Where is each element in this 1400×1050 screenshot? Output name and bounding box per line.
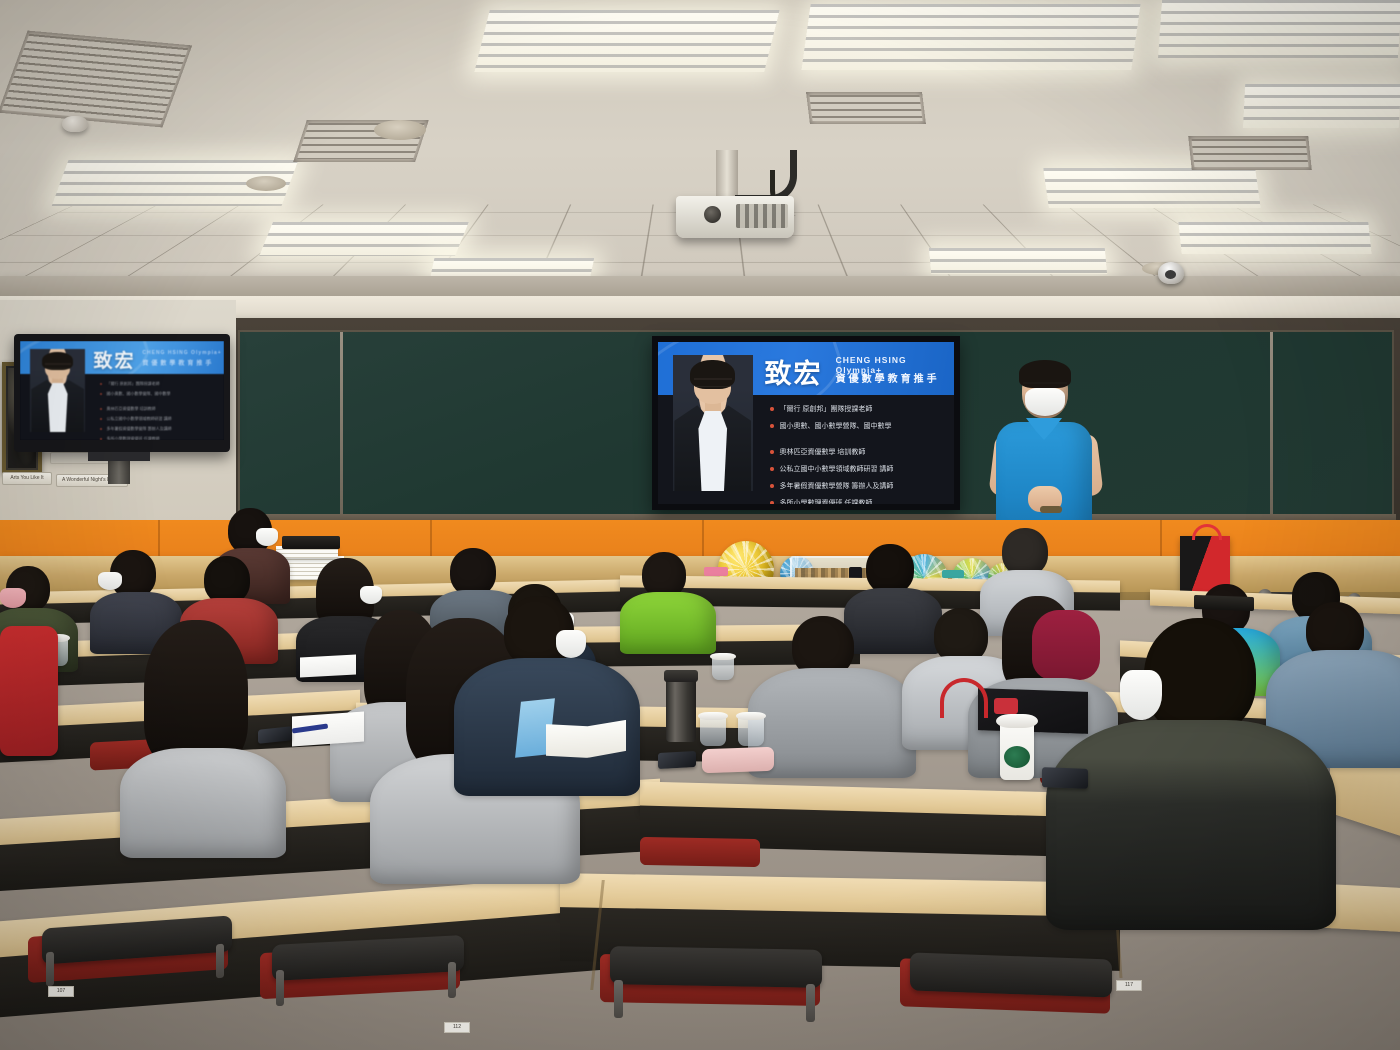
pencil-case (702, 747, 774, 774)
presenter-wristwatch (1040, 506, 1062, 513)
cup-lid (698, 712, 728, 720)
wall-plaque: Arts You Like It (2, 472, 52, 485)
slide-bullet-text: 多年暑假資優數學營隊 籌辦人及講師 (779, 481, 893, 491)
slide-bullet-text: 多年暑假資優數學營隊 籌辦人及講師 (107, 426, 172, 432)
presenter-face-mask (1025, 388, 1065, 416)
slide-bullet-text: 奧林匹亞資優數學 培訓教師 (779, 447, 865, 457)
bullet-dot-icon (770, 484, 774, 488)
slide-bullet-item: 奧林匹亞資優數學 培訓教師 (100, 406, 218, 412)
portrait-glasses (694, 378, 732, 386)
travel-thermos (666, 676, 696, 742)
tote-bag-logo (994, 698, 1018, 714)
closed-laptop (282, 536, 340, 549)
bullet-dot-icon (100, 408, 102, 410)
slide-canvas: 致宏 CHENG HSING Olympia+ 資優數學教育推手 「爾行 原創邦… (658, 342, 954, 504)
desk-number-tag: 112 (444, 1022, 470, 1033)
chair-frame (216, 944, 224, 979)
slide-bullet-text: 「爾行 原創邦」團隊授課老師 (779, 404, 872, 414)
closed-laptop (1194, 595, 1254, 611)
desk-number-tag: 107 (48, 986, 74, 997)
slide-bullet-text: 國小奧數、國小數學營隊、國中數學 (107, 391, 171, 397)
main-projection-screen: 致宏 CHENG HSING Olympia+ 資優數學教育推手 「爾行 原創邦… (652, 336, 960, 510)
audience-member (126, 620, 266, 820)
slide-subtitle-en: CHENG HSING Olympia+ (142, 350, 221, 356)
drink-cup (700, 716, 726, 746)
bullet-dot-icon (770, 407, 774, 411)
recessed-fluorescent-light-panel (1178, 222, 1371, 254)
slide-bullet-item: 多年暑假資優數學營隊 籌辦人及講師 (100, 426, 218, 432)
slide-bullet-item: 奧林匹亞資優數學 培訓教師 (770, 447, 948, 457)
recessed-fluorescent-light-panel (1158, 0, 1400, 58)
chair-frame (806, 984, 815, 1022)
audience-member (1046, 600, 1366, 900)
slide-bullet-item: 國小奧數、國小數學營隊、國中數學 (770, 421, 948, 431)
monitor-screen: 致宏 CHENG HSING Olympia+ 資優數學教育推手 「爾行 原創邦… (20, 341, 224, 440)
chair-frame (448, 962, 456, 998)
chair-frame (614, 980, 623, 1018)
chair-backrest[interactable] (610, 946, 822, 988)
slide-title: 致宏 (93, 346, 135, 373)
slide-bullet-item: 「爾行 原創邦」團隊授課老師 (100, 381, 218, 387)
wall-mounted-lcd-monitor[interactable]: 致宏 CHENG HSING Olympia+ 資優數學教育推手 「爾行 原創邦… (14, 334, 230, 452)
face-mask (98, 572, 122, 590)
portrait-glasses (45, 363, 71, 368)
face-mask (1120, 670, 1162, 720)
recessed-fluorescent-light-panel (1043, 168, 1261, 208)
audience-member (762, 616, 902, 756)
monitor-stand (88, 452, 150, 461)
slide-bullet-item: 多所小學數理資優班 任課教師 (100, 436, 218, 440)
desk-number-tag: 117 (1116, 980, 1142, 991)
bullet-dot-icon (100, 393, 102, 395)
face-mask (256, 528, 278, 546)
chair-seat[interactable] (640, 837, 760, 867)
recessed-fluorescent-light-panel (474, 10, 779, 72)
ceiling-air-vent (0, 31, 192, 128)
slide-bullet-item: 多所小學數理資優班 任課教師 (770, 498, 948, 504)
slide-bullet-text: 國小奧數、國小數學營隊、國中數學 (779, 421, 891, 431)
blackboard-panel-divider (1270, 332, 1273, 514)
red-backpack (0, 626, 58, 756)
audience-member (628, 552, 708, 642)
ceiling-air-vent (806, 92, 926, 124)
bullet-dot-icon (770, 450, 774, 454)
tote-bag-handle (940, 678, 988, 718)
person-head (1002, 528, 1048, 576)
bullet-dot-icon (100, 383, 102, 385)
ceiling-air-vent (1188, 136, 1312, 170)
slide-bullet-item: 國小奧數、國小數學營隊、國中數學 (100, 391, 218, 397)
projector-lens (704, 206, 721, 223)
person-torso (620, 592, 716, 654)
bullet-dot-icon (100, 418, 102, 420)
chair-frame (46, 952, 54, 987)
face-mask (0, 588, 26, 608)
slide-bullet-text: 「爾行 原創邦」團隊授課老師 (107, 381, 160, 387)
recessed-fluorescent-light-panel (259, 222, 469, 256)
slide-bullet-list: 「爾行 原創邦」團隊授課老師 國小奧數、國小數學營隊、國中數學 奧林匹亞資優數學… (770, 404, 948, 504)
person-head (866, 544, 914, 594)
blackboard-panel-divider (340, 332, 343, 514)
bullet-dot-icon (770, 501, 774, 504)
coffee-cup-lid (996, 714, 1038, 728)
slide-bullet-item: 公私立國中小數學領域教師研習 講師 (100, 416, 218, 422)
slide-subtitle-cn: 資優數學教育推手 (142, 358, 214, 367)
slide-bullet-text: 公私立國中小數學領域教師研習 講師 (107, 416, 172, 422)
bullet-dot-icon (770, 424, 774, 428)
smartphone[interactable] (658, 751, 696, 769)
recessed-fluorescent-light-panel (929, 248, 1107, 274)
slide-bullet-item: 「爾行 原創邦」團隊授課老師 (770, 404, 948, 414)
ceiling (0, 0, 1400, 330)
slide-bullet-item: 多年暑假資優數學營隊 籌辦人及講師 (770, 481, 948, 491)
slide-bullet-list: 「爾行 原創邦」團隊授課老師 國小奧數、國小數學營隊、國中數學 奧林匹亞資優數學… (100, 381, 218, 440)
smartphone[interactable] (1042, 767, 1088, 789)
slide-bullet-item: 公私立國中小數學領域教師研習 講師 (770, 464, 948, 474)
person-hair (144, 620, 248, 768)
thermos-lid (664, 670, 698, 682)
coffee-cup-logo (1004, 746, 1030, 768)
recessed-fluorescent-light-panel (1243, 84, 1400, 128)
person-torso (120, 748, 286, 858)
bullet-dot-icon (100, 428, 102, 430)
ceiling-speaker (246, 176, 286, 191)
projector-ports (736, 204, 788, 228)
slide-title: 致宏 (765, 352, 823, 391)
chair-backrest[interactable] (910, 952, 1112, 997)
slide-bullet-text: 多所小學數理資優班 任課教師 (107, 436, 160, 440)
slide-subtitle-cn: 資優數學教育推手 (836, 370, 940, 385)
ceiling-speaker (374, 120, 426, 140)
slide-portrait-photo (673, 355, 753, 491)
ceiling-mounted-projector (676, 196, 794, 238)
cup-lid (710, 653, 736, 660)
cup-lid (736, 712, 766, 720)
slide-bullet-text: 奧林匹亞資優數學 培訓教師 (107, 406, 156, 412)
audience-member (470, 596, 620, 796)
face-mask (556, 630, 586, 658)
recessed-fluorescent-light-panel (801, 4, 1140, 70)
bullet-dot-icon (770, 467, 774, 471)
notebook (300, 655, 356, 678)
person-torso (1046, 720, 1336, 930)
monitor-slide-mirror: 致宏 CHENG HSING Olympia+ 資優數學教育推手 「爾行 原創邦… (20, 341, 224, 440)
chair-frame (276, 970, 284, 1006)
person-head (1144, 618, 1256, 736)
dome-security-camera (1158, 262, 1184, 284)
smoke-detector (62, 116, 88, 132)
drink-cup (738, 716, 764, 746)
slide-bullet-text: 多所小學數理資優班 任課教師 (779, 498, 872, 504)
face-mask (360, 586, 382, 604)
slide-bullet-text: 公私立國中小數學領域教師研習 講師 (779, 464, 893, 474)
person-head (204, 556, 250, 604)
bullet-dot-icon (100, 438, 102, 440)
classroom-scene: Arts You Like It A Wonderful Night's Dre… (0, 0, 1400, 1050)
slide-portrait-photo (30, 349, 85, 432)
